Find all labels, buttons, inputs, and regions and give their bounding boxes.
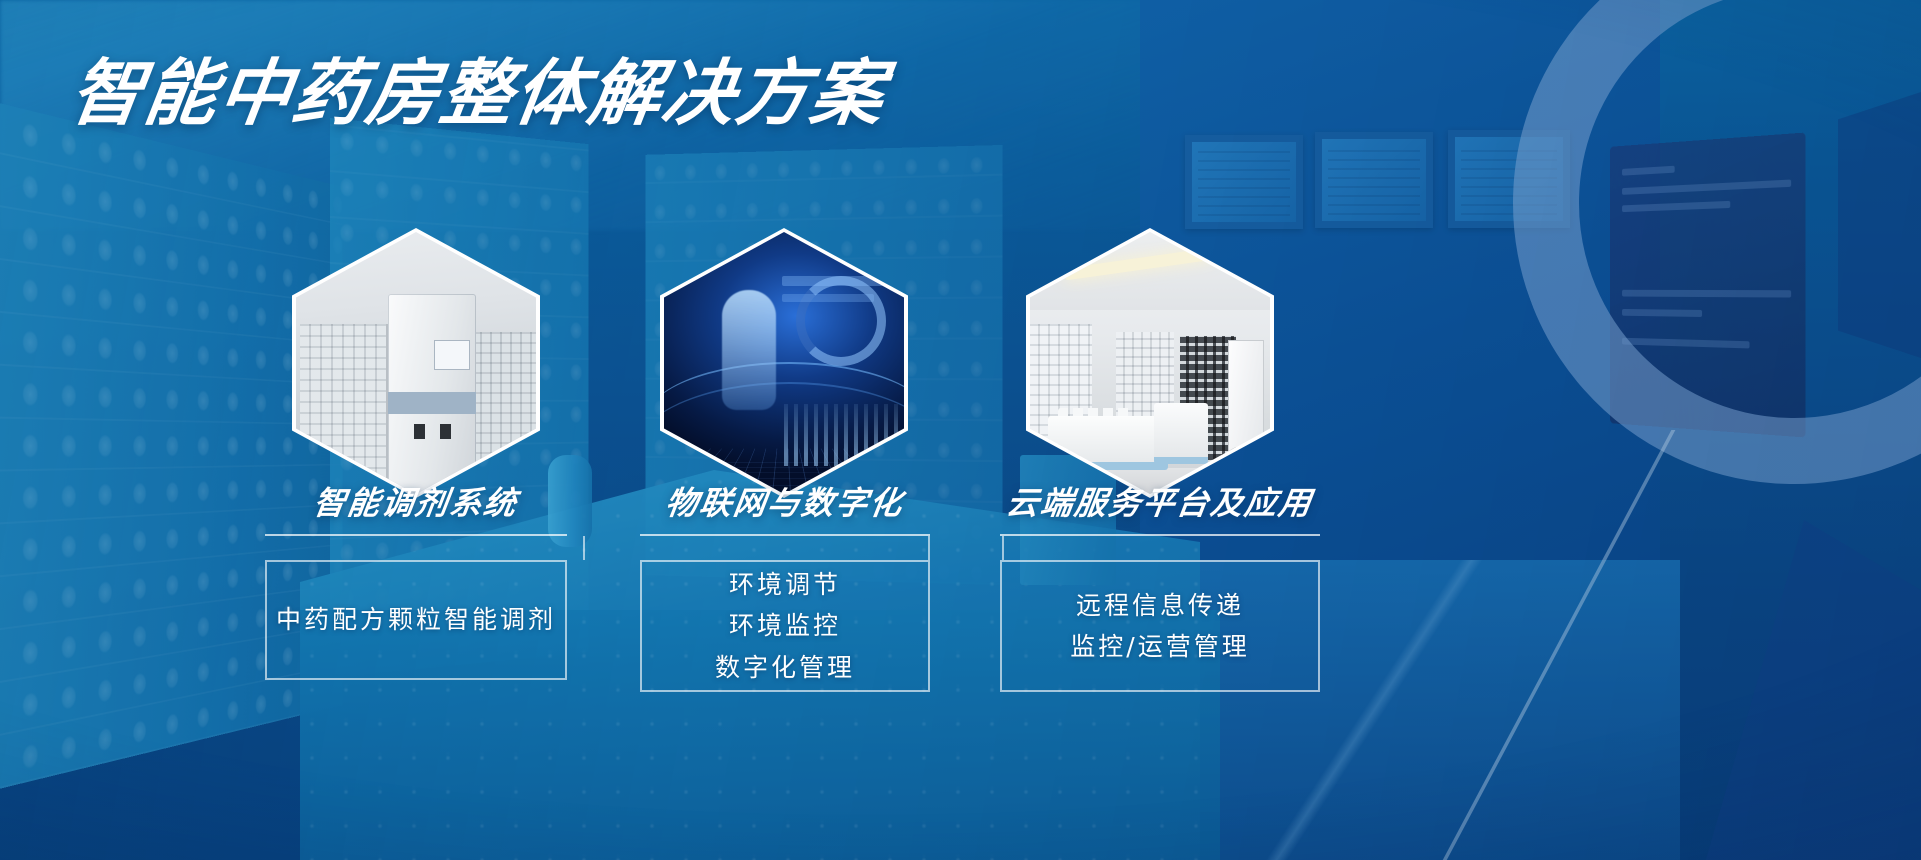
card-iot-digital: 物联网与数字化 环境调节 环境监控 数字化管理 bbox=[640, 478, 930, 692]
card-text-box: 环境调节 环境监控 数字化管理 bbox=[640, 560, 930, 692]
card-text-box: 中药配方颗粒智能调剂 bbox=[265, 560, 567, 680]
card-line: 数字化管理 bbox=[715, 652, 855, 683]
card-line: 远程信息传递 bbox=[1076, 590, 1244, 621]
card-line: 环境调节 bbox=[729, 569, 841, 600]
hex-frame-smart-dispensing[interactable] bbox=[292, 228, 540, 498]
hex-frame-iot-digital[interactable] bbox=[660, 228, 908, 498]
card-heading: 智能调剂系统 bbox=[262, 478, 570, 524]
card-line: 中药配方颗粒智能调剂 bbox=[276, 604, 556, 635]
card-smart-dispensing: 智能调剂系统 中药配方颗粒智能调剂 bbox=[265, 478, 567, 680]
card-heading: 云端服务平台及应用 bbox=[997, 478, 1323, 524]
dispensing-machine-photo bbox=[296, 232, 536, 494]
hex-frame-cloud-platform[interactable] bbox=[1026, 228, 1274, 498]
pharmacy-room-photo bbox=[1030, 232, 1270, 494]
card-line: 环境监控 bbox=[729, 610, 841, 641]
page-title: 智能中药房整体解决方案 bbox=[65, 34, 894, 139]
digital-technology-photo bbox=[664, 232, 904, 494]
banner-stage: 智能中药房整体解决方案 bbox=[0, 0, 1921, 860]
card-line: 监控/运营管理 bbox=[1070, 631, 1249, 662]
card-cloud-platform: 云端服务平台及应用 远程信息传递 监控/运营管理 bbox=[1000, 478, 1320, 692]
card-text-box: 远程信息传递 监控/运营管理 bbox=[1000, 560, 1320, 692]
card-heading: 物联网与数字化 bbox=[637, 478, 933, 524]
